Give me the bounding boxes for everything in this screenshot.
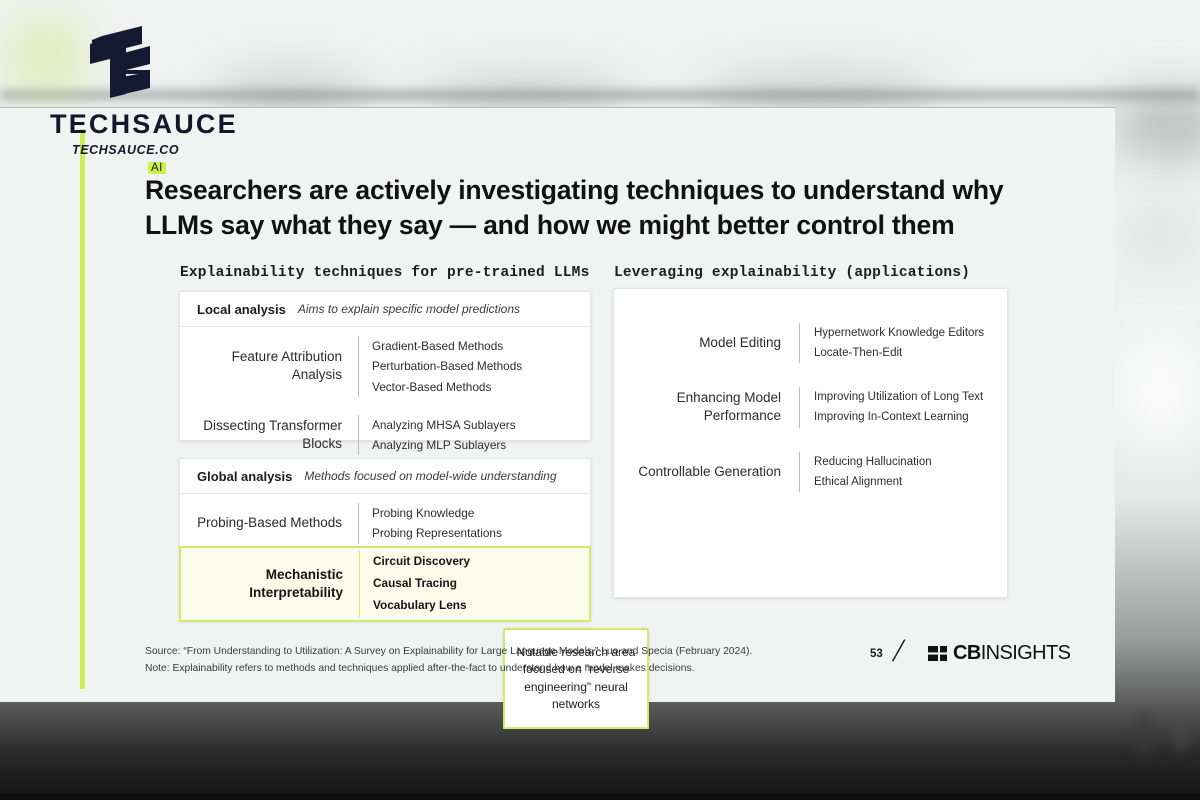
techsauce-url: TECHSAUCE.CO (72, 143, 280, 157)
card-title: Global analysis (197, 469, 292, 484)
row-items: Analyzing MHSA Sublayers Analyzing MLP S… (358, 415, 590, 456)
list-item: Hypernetwork Knowledge Editors (814, 323, 1007, 343)
row-label: Feature Attribution Analysis (180, 348, 358, 384)
table-row: Feature Attribution Analysis Gradient-Ba… (180, 327, 590, 406)
row-label: Model Editing (614, 334, 799, 352)
row-items: Gradient-Based Methods Perturbation-Base… (358, 336, 590, 397)
slide-panel: Researchers are actively investigating t… (0, 107, 1115, 702)
note-line: Note: Explainability refers to methods a… (145, 661, 845, 678)
screenshot-stage: Researchers are actively investigating t… (0, 0, 1200, 800)
backdrop-blob (1120, 330, 1200, 450)
card-header-global-analysis: Global analysis Methods focused on model… (180, 459, 590, 494)
row-items: Probing Knowledge Probing Representation… (358, 503, 590, 544)
list-item: Causal Tracing (373, 573, 589, 595)
row-items: Circuit Discovery Causal Tracing Vocabul… (359, 551, 589, 616)
row-items: Hypernetwork Knowledge Editors Locate-Th… (799, 323, 1007, 363)
list-item: Analyzing MLP Sublayers (372, 435, 590, 455)
list-item: Reducing Hallucination (814, 452, 1007, 472)
card-local-analysis: Local analysis Aims to explain specific … (179, 291, 591, 441)
list-item: Circuit Discovery (373, 551, 589, 573)
row-items: Improving Utilization of Long Text Impro… (799, 387, 1007, 427)
slide-content: Researchers are actively investigating t… (0, 108, 1115, 703)
row-items: Reducing Hallucination Ethical Alignment (799, 452, 1007, 492)
divider-slash-icon: ╱ (893, 640, 905, 663)
list-item: Ethical Alignment (814, 472, 1007, 492)
page-title: Researchers are actively investigating t… (145, 173, 1025, 243)
ai-badge: AI (148, 162, 166, 174)
row-label: Enhancing Model Performance (614, 389, 799, 425)
row-label: Controllable Generation (614, 463, 799, 481)
techsauce-branding: TECHSAUCE TECHSAUCE.CO AI (50, 24, 280, 176)
row-label: Mechanistic Interpretability (181, 566, 359, 602)
list-item: Perturbation-Based Methods (372, 356, 590, 376)
cb-insights-wordmark: CBINSIGHTS (953, 642, 1070, 665)
list-item: Vocabulary Lens (373, 595, 589, 617)
page-number: 53 (870, 648, 883, 660)
list-item: Gradient-Based Methods (372, 336, 590, 356)
list-item: Improving In-Context Learning (814, 407, 1007, 427)
brand-bold: CB (953, 642, 981, 664)
column-heading-applications: Leveraging explainability (applications) (614, 265, 970, 281)
list-item: Locate-Then-Edit (814, 343, 1007, 363)
table-row: Enhancing Model Performance Improving Ut… (614, 375, 1007, 439)
card-title: Local analysis (197, 302, 286, 317)
highlighted-row-mechanistic-interpretability: Mechanistic Interpretability Circuit Dis… (179, 546, 591, 622)
backdrop-figure (1176, 718, 1186, 750)
card-header-local-analysis: Local analysis Aims to explain specific … (180, 292, 590, 327)
source-line: Source: “From Understanding to Utilizati… (145, 644, 845, 661)
techsauce-wordmark: TECHSAUCE (50, 111, 280, 138)
column-heading-explainability: Explainability techniques for pre-traine… (180, 265, 589, 281)
backdrop-blob (1125, 205, 1195, 265)
cb-insights-logo: CBINSIGHTS (928, 642, 1070, 665)
list-item: Probing Representations (372, 523, 590, 543)
card-subtitle: Aims to explain specific model predictio… (298, 302, 520, 316)
brand-light: INSIGHTS (981, 642, 1071, 664)
list-item: Analyzing MHSA Sublayers (372, 415, 590, 435)
table-row: Dissecting Transformer Blocks Analyzing … (180, 406, 590, 465)
table-row: Model Editing Hypernetwork Knowledge Edi… (614, 311, 1007, 375)
row-label: Dissecting Transformer Blocks (180, 417, 358, 453)
list-item: Probing Knowledge (372, 503, 590, 523)
footer-notes: Source: “From Understanding to Utilizati… (145, 644, 845, 677)
table-row: Probing-Based Methods Probing Knowledge … (180, 494, 590, 553)
row-label: Probing-Based Methods (180, 514, 358, 532)
green-accent-bar (80, 129, 85, 689)
techsauce-logo-mark (80, 24, 158, 104)
card-applications: Model Editing Hypernetwork Knowledge Edi… (613, 288, 1008, 598)
cb-insights-block-icon (928, 646, 947, 661)
backdrop-bottom-bar (0, 794, 1200, 800)
list-item: Improving Utilization of Long Text (814, 387, 1007, 407)
table-row: Controllable Generation Reducing Halluci… (614, 440, 1007, 504)
backdrop-figure (1138, 714, 1150, 754)
list-item: Vector-Based Methods (372, 377, 590, 397)
card-subtitle: Methods focused on model-wide understand… (304, 469, 556, 483)
